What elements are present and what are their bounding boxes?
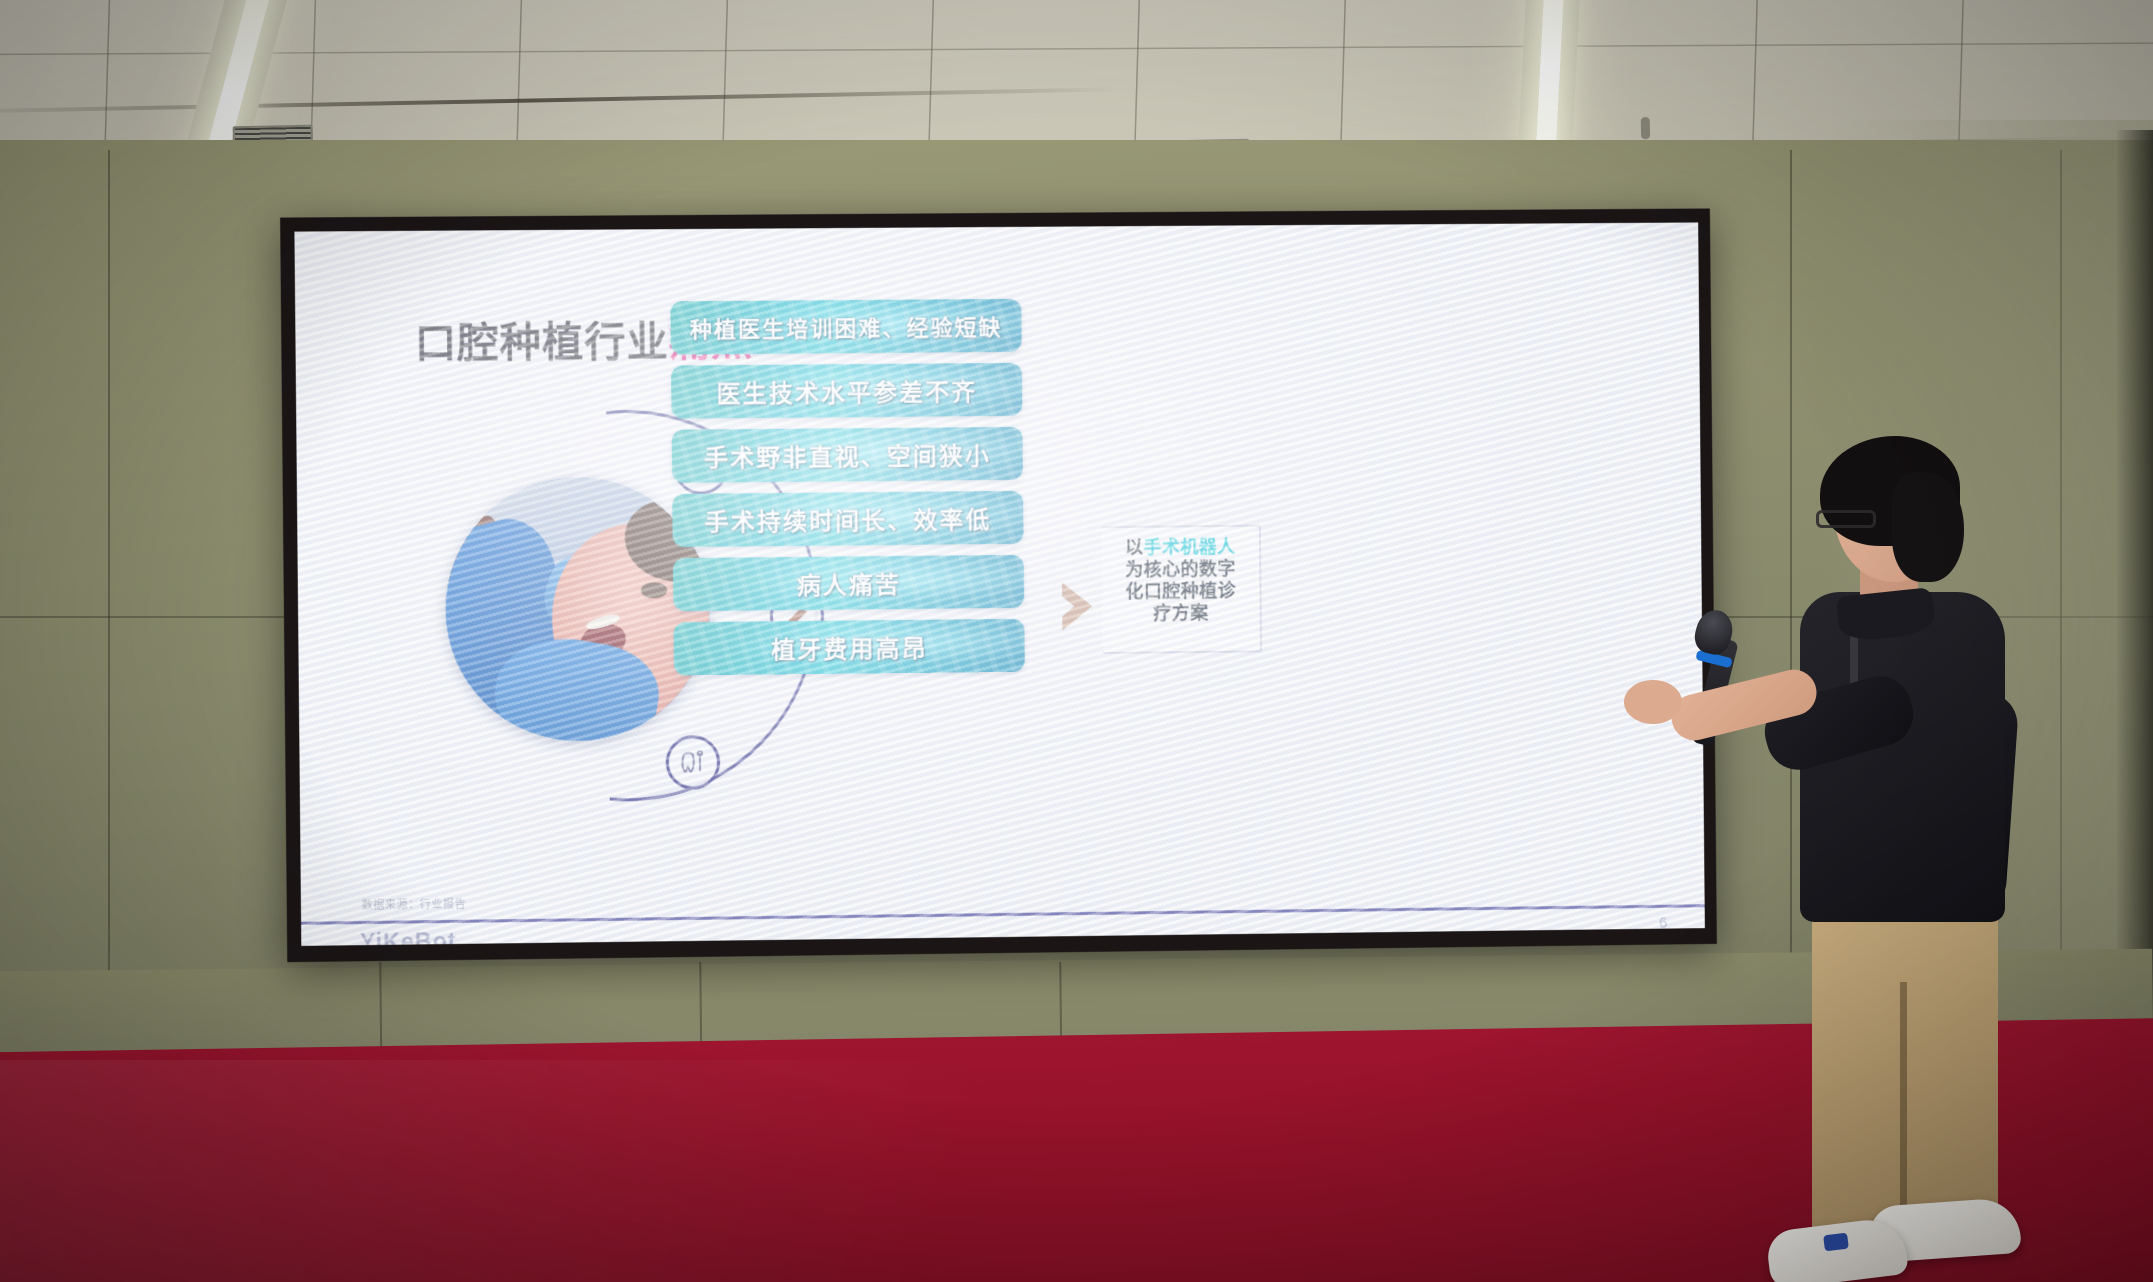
solution-line-4: 疗方案: [1110, 602, 1252, 625]
solution-line-1: 以手术机器人: [1109, 537, 1251, 560]
pain-point-bar[interactable]: 医生技术水平参差不齐: [671, 363, 1022, 419]
projection-screen: 口腔种植行业痛点: [294, 222, 1704, 945]
brand-logo: YiKeBot: [360, 928, 457, 946]
presenter: [1742, 442, 2042, 1282]
pain-point-label: 种植医生培训困难、经验短缺: [690, 309, 1003, 343]
tooth-icon: [666, 735, 721, 790]
wall-panel-seam: [108, 150, 110, 980]
chevron-right-icon: [1054, 578, 1101, 639]
photo-patient-eye: [641, 582, 667, 598]
projection-screen-frame: 口腔种植行业痛点: [280, 208, 1717, 962]
ceiling-sprinkler: [1641, 117, 1650, 139]
pain-point-bar[interactable]: 植牙费用高昂: [673, 619, 1024, 676]
solution-highlight: 手术机器人: [1143, 537, 1235, 558]
pain-point-label: 手术野非直视、空间狭小: [704, 436, 991, 473]
solution-line-3: 化口腔种植诊: [1110, 581, 1252, 604]
solution-prefix: 以: [1125, 538, 1144, 558]
solution-line-2: 为核心的数字: [1110, 559, 1252, 582]
source-note: 数据来源：行业报告: [362, 896, 467, 913]
pain-point-list: 种植医生培训困难、经验短缺 医生技术水平参差不齐 手术野非直视、空间狭小: [670, 299, 1025, 687]
solution-callout: 以手术机器人 为核心的数字 化口腔种植诊 疗方案: [1101, 525, 1262, 654]
page-number: 6: [1659, 915, 1667, 932]
pain-point-bar[interactable]: 手术野非直视、空间狭小: [672, 427, 1023, 483]
pain-point-bar[interactable]: 种植医生培训困难、经验短缺: [670, 299, 1021, 355]
pain-point-label: 植牙费用高昂: [771, 629, 928, 666]
dental-patient-photo: [444, 477, 710, 743]
presentation-scene: 口腔种植行业痛点: [0, 0, 2153, 1282]
pain-point-label: 病人痛苦: [797, 565, 902, 601]
slide-title-main: 口腔种植行业: [415, 318, 669, 366]
pain-point-bar[interactable]: 病人痛苦: [673, 555, 1024, 611]
presenter-shoe-logo: [1823, 1233, 1849, 1252]
presenter-hair-back: [1892, 472, 1964, 582]
pain-point-label: 医生技术水平参差不齐: [716, 372, 977, 409]
pain-point-label: 手术持续时间长、效率低: [705, 500, 992, 538]
presenter-glasses: [1816, 510, 1876, 528]
pain-point-bar[interactable]: 手术持续时间长、效率低: [672, 491, 1023, 547]
presenter-hand: [1624, 680, 1682, 724]
footer-divider: [301, 904, 1705, 925]
presentation-slide: 口腔种植行业痛点: [294, 222, 1704, 945]
